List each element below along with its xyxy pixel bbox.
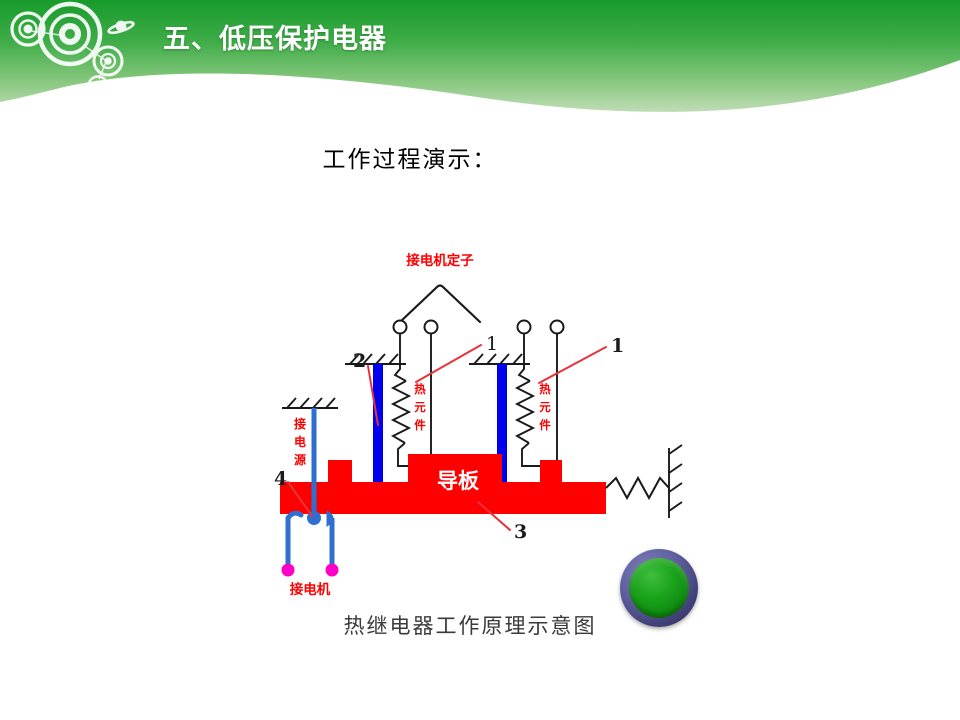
motor-stator-arch — [400, 286, 480, 323]
support-hatch-spring — [669, 445, 682, 518]
section-subtitle: 工作过程演示： — [0, 140, 960, 174]
svg-text:热: 热 — [539, 382, 551, 396]
header-banner: 五、低压保护电器 — [0, 0, 960, 112]
support-hatch-right — [469, 354, 530, 364]
label-motor-stator: 接电机定子 — [406, 252, 474, 269]
label-heating-element-left: 热 元 件 — [414, 382, 426, 432]
callout-2: 2 — [353, 350, 366, 372]
terminal-circle — [551, 321, 564, 334]
callout-1-right: 1 — [611, 335, 624, 357]
svg-text:件: 件 — [414, 418, 426, 432]
terminal-dot — [282, 564, 295, 577]
slide: 五、低压保护电器 工作过程演示： 接电机定子 — [0, 0, 960, 720]
pointer-1-right — [539, 347, 606, 383]
svg-text:热: 热 — [414, 382, 426, 396]
play-demo-button[interactable] — [620, 549, 698, 627]
label-guide-plate: 导板 — [437, 469, 480, 493]
label-heating-element-right: 热 元 件 — [539, 382, 551, 432]
terminal-circle — [425, 321, 438, 334]
terminal-dot — [326, 564, 339, 577]
terminal-circle — [518, 321, 531, 334]
label-motor: 接电机 — [290, 581, 331, 598]
callout-1-left: 1 — [486, 333, 498, 355]
svg-text:电: 电 — [294, 434, 306, 449]
terminal-circle — [394, 321, 407, 334]
support-hatch-power — [282, 398, 338, 408]
svg-text:接: 接 — [294, 416, 306, 431]
diagram-caption: 热继电器工作原理示意图 — [0, 610, 960, 640]
callout-4: 4 — [274, 468, 287, 490]
terminal-posts — [394, 321, 564, 334]
svg-text:元: 元 — [414, 400, 426, 414]
svg-text:件: 件 — [539, 418, 551, 432]
callout-3: 3 — [514, 521, 527, 543]
diagram-caption-text: 热继电器工作原理示意图 — [344, 614, 597, 638]
heating-element-right-circuit — [517, 334, 557, 466]
section-subtitle-text: 工作过程演示： — [323, 147, 498, 173]
svg-text:元: 元 — [539, 400, 551, 414]
svg-text:源: 源 — [294, 452, 306, 467]
label-power-supply: 接 电 源 — [294, 416, 306, 467]
page-title: 五、低压保护电器 — [163, 17, 387, 56]
contact-arm-left — [288, 513, 301, 518]
banner-graphic — [0, 0, 960, 112]
return-spring — [606, 478, 669, 498]
